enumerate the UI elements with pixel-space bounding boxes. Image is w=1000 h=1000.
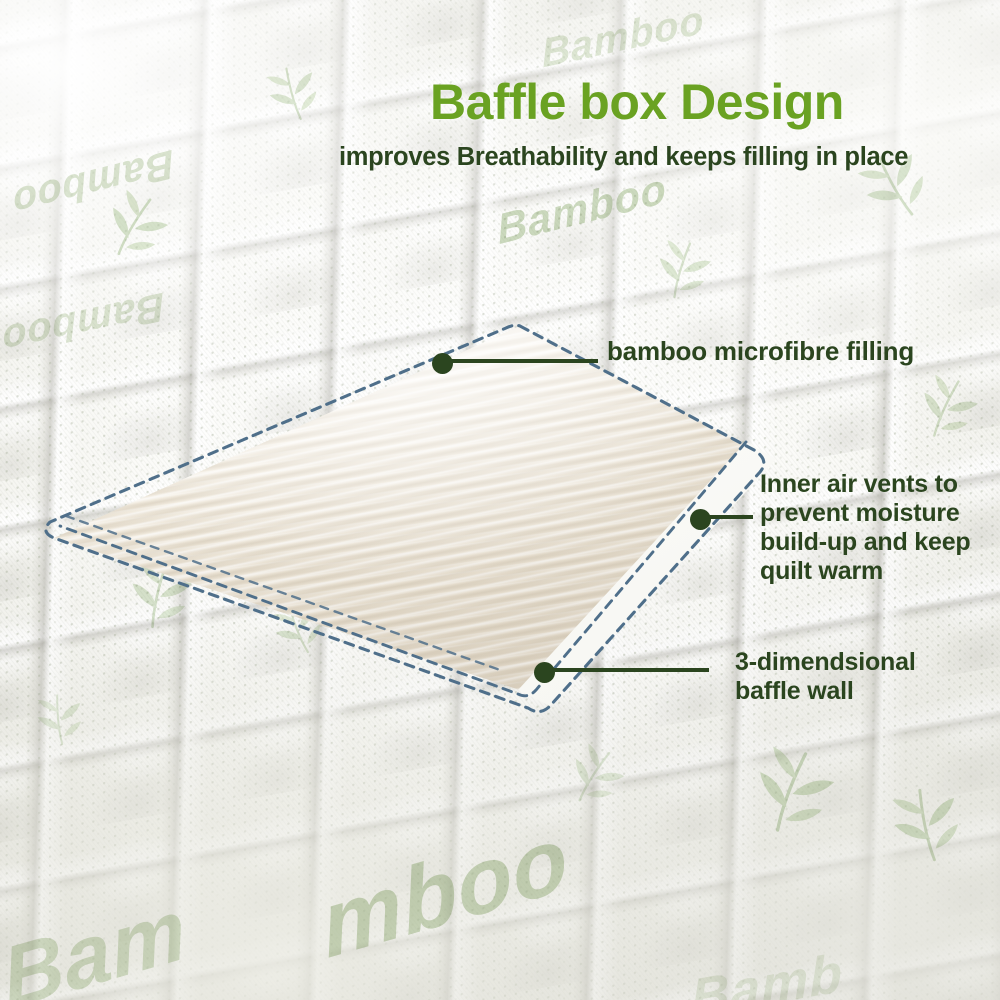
callout-dot-baffle-wall (534, 662, 555, 683)
page-title: Baffle box Design (430, 73, 844, 131)
product-infographic: BambooBambooBambooBamboombooBamBamb bamb… (0, 0, 1000, 1000)
callout-label-filling: bamboo microfibre filling (607, 336, 914, 366)
callout-dot-air-vents (690, 509, 711, 530)
page-subtitle: improves Breathability and keeps filling… (339, 143, 908, 172)
callout-dot-filling (432, 353, 453, 374)
callout-leader-line-air-vents (701, 515, 753, 519)
callout-label-air-vents: Inner air vents to prevent moisture buil… (760, 470, 971, 586)
callout-leader-line-filling (443, 359, 598, 363)
callout-leader-line-baffle-wall (545, 668, 709, 672)
callout-label-baffle-wall: 3-dimendsional baffle wall (735, 648, 916, 706)
